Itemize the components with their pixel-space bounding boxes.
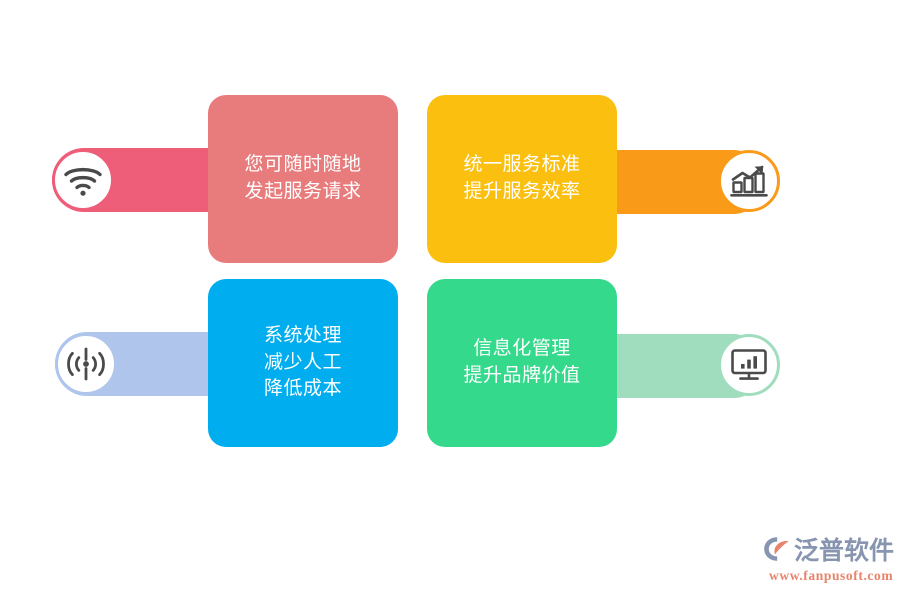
card-top-left-text: 您可随时随地 发起服务请求 (244, 152, 361, 206)
card-bottom-right[interactable]: 信息化管理 提升品牌价值 (427, 279, 617, 447)
infographic-canvas: 您可随时随地 发起服务请求 统一服务标准 提升服务效率 (0, 0, 900, 600)
growth-bar-chart-icon-badge (718, 150, 780, 212)
monitor-chart-icon-badge (718, 334, 780, 396)
brand-logo: 泛普软件 www.fanpusoft.com (763, 536, 894, 583)
brand-name: 泛普软件 (794, 539, 894, 564)
brand-url: www.fanpusoft.com (769, 569, 893, 583)
card-bottom-right-text: 信息化管理 提升品牌价值 (463, 336, 580, 390)
card-top-right[interactable]: 统一服务标准 提升服务效率 (427, 95, 617, 263)
wifi-icon-badge (52, 149, 114, 211)
broadcast-signal-icon (66, 345, 106, 383)
card-bottom-left-text: 系统处理 减少人工 降低成本 (264, 323, 342, 404)
fanpu-logo-mark-icon (763, 536, 791, 567)
brand-logo-row: 泛普软件 (763, 536, 894, 567)
card-top-left[interactable]: 您可随时随地 发起服务请求 (208, 95, 398, 263)
broadcast-signal-icon-badge (55, 333, 117, 395)
monitor-chart-icon (729, 347, 769, 383)
card-bottom-left[interactable]: 系统处理 减少人工 降低成本 (208, 279, 398, 447)
growth-bar-chart-icon (729, 163, 769, 199)
card-top-right-text: 统一服务标准 提升服务效率 (463, 152, 580, 206)
wifi-icon (63, 163, 103, 197)
